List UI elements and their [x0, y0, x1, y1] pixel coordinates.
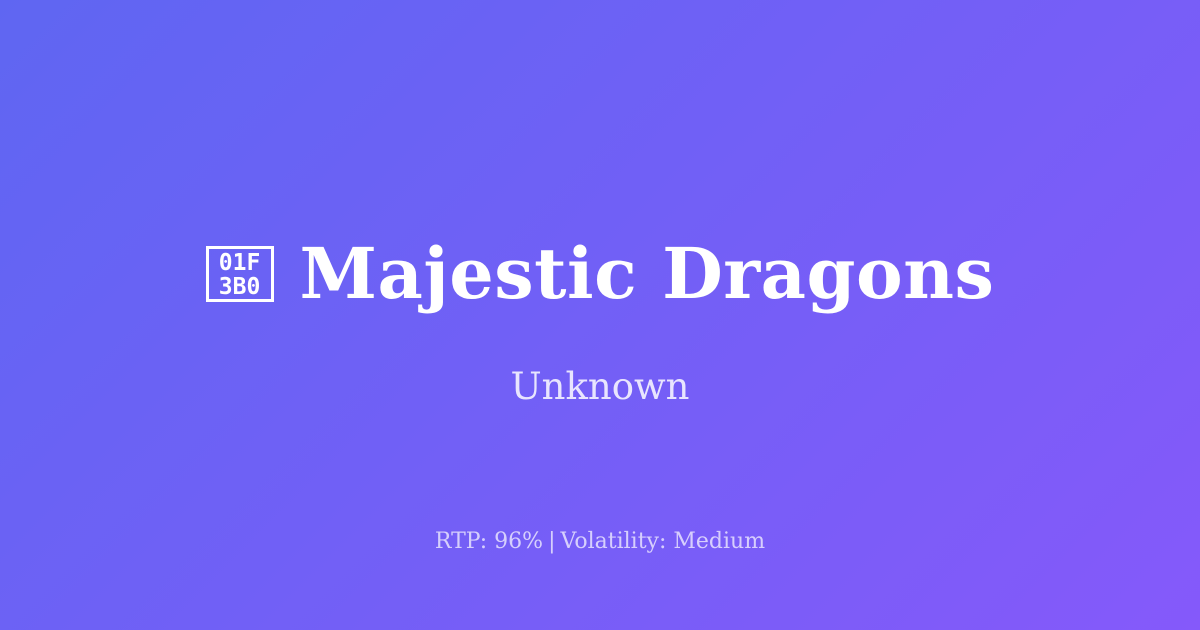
game-share-card: 01F 3B0 Majestic Dragons Unknown RTP: 96…	[0, 0, 1200, 630]
codepoint-top: 01F	[219, 251, 261, 275]
rtp-value: RTP: 96%	[435, 529, 543, 554]
volatility-value: Volatility: Medium	[561, 529, 766, 554]
provider-name: Unknown	[0, 362, 1200, 412]
slot-machine-icon: 01F 3B0	[206, 246, 274, 302]
meta-separator: |	[543, 529, 560, 554]
game-meta: RTP: 96%|Volatility: Medium	[0, 527, 1200, 557]
codepoint-bottom: 3B0	[219, 275, 261, 299]
title-row: 01F 3B0 Majestic Dragons	[0, 232, 1200, 316]
game-title: Majestic Dragons	[300, 232, 995, 316]
